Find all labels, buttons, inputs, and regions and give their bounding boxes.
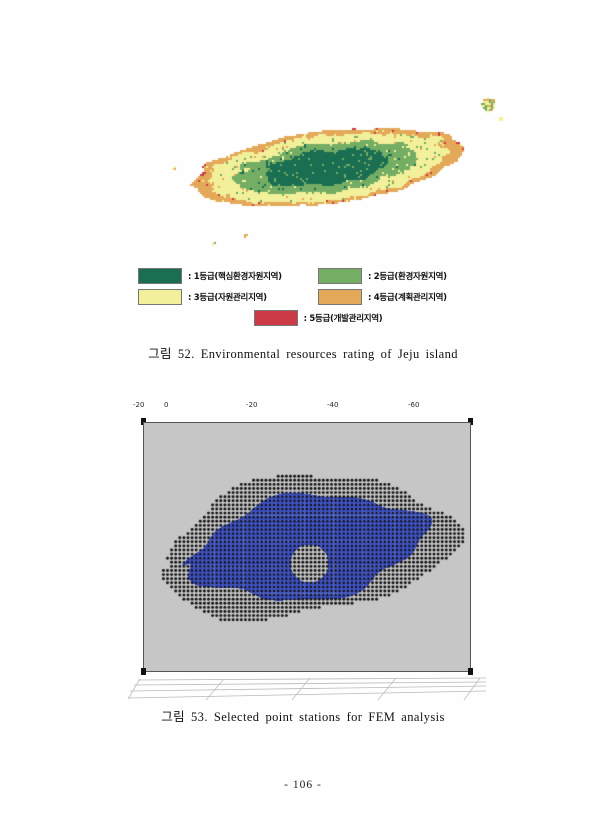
figure-52-container: : 1등급(핵심환경자원지역) : 2등급(환경자원지역) : 3등급(자원관리… xyxy=(0,62,606,362)
legend-item-grade-3: : 3등급(자원관리지역) xyxy=(138,289,318,305)
jeju-map-canvas xyxy=(148,82,510,252)
axis-end-cap xyxy=(468,668,473,675)
legend-label-grade-1: : 1등급(핵심환경자원지역) xyxy=(188,270,282,282)
legend-item-grade-5: : 5등급(개발관리지역) xyxy=(254,310,383,326)
figure-53-container: -20 0 -20 -40 -60 xyxy=(0,398,606,698)
legend-item-grade-2: : 2등급(환경자원지역) xyxy=(318,268,498,284)
axis-tick-label: 0 xyxy=(164,401,168,409)
fem-point-stations-canvas xyxy=(144,423,470,671)
figure-53-caption: 그림 53. Selected point stations for FEM a… xyxy=(0,706,606,725)
legend-item-grade-1: : 1등급(핵심환경자원지역) xyxy=(138,268,318,284)
legend-label-grade-4: : 4등급(계획관리지역) xyxy=(368,291,447,303)
axis-tick-label: -60 xyxy=(408,401,419,409)
legend-row: : 3등급(자원관리지역) : 4등급(계획관리지역) xyxy=(138,288,498,306)
legend-row: : 1등급(핵심환경자원지역) : 2등급(환경자원지역) xyxy=(138,267,498,285)
fem-axis-tick-labels: -20 0 -20 -40 -60 xyxy=(0,398,606,416)
figure-52-caption: 그림 52. Environmental resources rating of… xyxy=(0,343,606,362)
legend-row: : 5등급(개발관리지역) xyxy=(138,309,498,327)
legend-swatch-grade-2 xyxy=(318,268,362,284)
legend-swatch-grade-4 xyxy=(318,289,362,305)
perspective-grid-svg xyxy=(128,676,488,704)
jeju-environmental-rating-map xyxy=(148,82,510,252)
axis-tick-label: -40 xyxy=(327,401,338,409)
document-page: : 1등급(핵심환경자원지역) : 2등급(환경자원지역) : 3등급(자원관리… xyxy=(0,0,606,840)
map-legend: : 1등급(핵심환경자원지역) : 2등급(환경자원지역) : 3등급(자원관리… xyxy=(138,267,498,330)
fem-plot-area xyxy=(143,422,471,672)
page-number: - 106 - xyxy=(0,779,606,791)
legend-label-grade-5: : 5등급(개발관리지역) xyxy=(304,312,383,324)
legend-swatch-grade-3 xyxy=(138,289,182,305)
legend-item-grade-4: : 4등급(계획관리지역) xyxy=(318,289,498,305)
axis-end-cap xyxy=(141,668,146,675)
legend-swatch-grade-5 xyxy=(254,310,298,326)
legend-label-grade-2: : 2등급(환경자원지역) xyxy=(368,270,447,282)
legend-swatch-grade-1 xyxy=(138,268,182,284)
axis-tick-label: -20 xyxy=(246,401,257,409)
legend-label-grade-3: : 3등급(자원관리지역) xyxy=(188,291,267,303)
axis-tick-label: -20 xyxy=(133,401,144,409)
fem-perspective-grid xyxy=(128,676,488,704)
